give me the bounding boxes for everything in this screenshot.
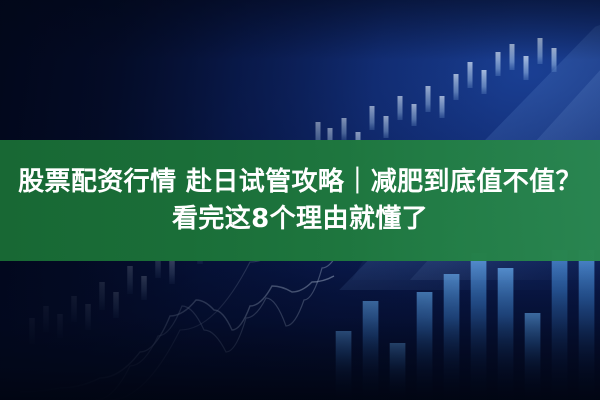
headline-line-1: 股票配资行情 赴日试管攻略｜减肥到底值不值？ xyxy=(18,164,582,201)
promo-banner: 股票配资行情 赴日试管攻略｜减肥到底值不值？ 看完这8个理由就懂了 xyxy=(0,0,600,400)
headline-line-2: 看完这8个理由就懂了 xyxy=(172,201,428,238)
title-block: 股票配资行情 赴日试管攻略｜减肥到底值不值？ 看完这8个理由就懂了 xyxy=(0,140,600,261)
title-band: 股票配资行情 赴日试管攻略｜减肥到底值不值？ 看完这8个理由就懂了 xyxy=(0,140,600,261)
top-fade-overlay xyxy=(0,0,600,60)
bottom-fade-overlay xyxy=(0,250,600,400)
